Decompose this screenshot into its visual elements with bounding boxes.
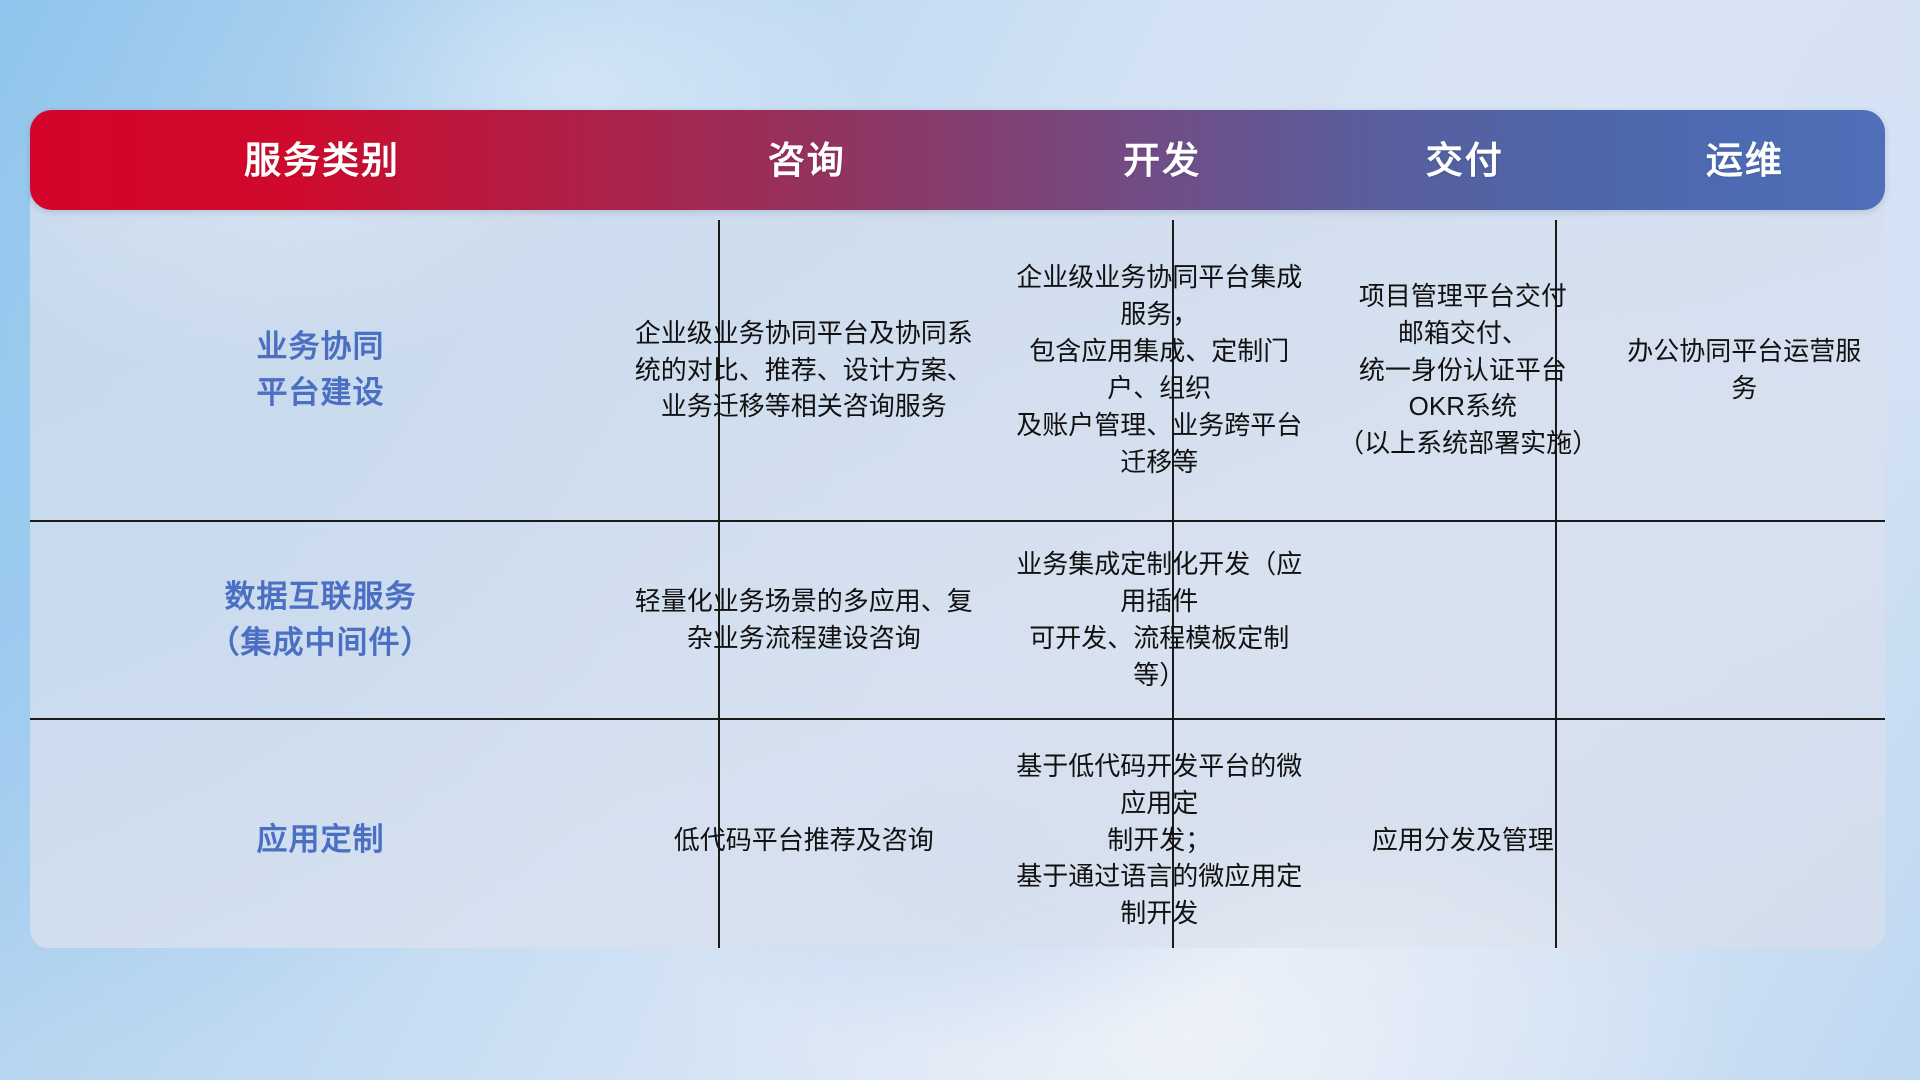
column-header-category: 服务类别 <box>30 142 614 179</box>
column-header-development: 开发 <box>1000 142 1325 179</box>
cell-consulting: 轻量化业务场景的多应用、复 杂业务流程建设咨询 <box>611 583 996 657</box>
column-header-consulting: 咨询 <box>614 142 999 179</box>
row-category-label: 业务协同 平台建设 <box>30 324 611 416</box>
cell-consulting: 企业级业务协同平台及协同系 统的对比、推荐、设计方案、 业务迁移等相关咨询服务 <box>611 315 996 426</box>
row-category-label: 应用定制 <box>30 817 611 863</box>
cell-delivery: 项目管理平台交付 邮箱交付、 统一身份认证平台 OKR系统 （以上系统部署实施） <box>1322 278 1603 463</box>
table-header-row: 服务类别 咨询 开发 交付 运维 <box>30 110 1885 210</box>
cell-operations: 办公协同平台运营服务 <box>1604 333 1885 407</box>
column-header-delivery: 交付 <box>1325 142 1605 179</box>
table-row: 应用定制 低代码平台推荐及咨询 基于低代码开发平台的微应用定 制开发； 基于通过… <box>30 720 1885 960</box>
cell-development: 企业级业务协同平台集成服务， 包含应用集成、定制门户、组织 及账户管理、业务跨平… <box>996 259 1322 480</box>
cell-delivery: 应用分发及管理 <box>1322 822 1603 859</box>
table-row: 业务协同 平台建设 企业级业务协同平台及协同系 统的对比、推荐、设计方案、 业务… <box>30 220 1885 520</box>
cell-development: 基于低代码开发平台的微应用定 制开发； 基于通过语言的微应用定制开发 <box>996 748 1322 933</box>
row-category-label: 数据互联服务 （集成中间件） <box>30 574 611 666</box>
cell-consulting: 低代码平台推荐及咨询 <box>611 822 996 859</box>
cell-development: 业务集成定制化开发（应用插件 可开发、流程模板定制等） <box>996 546 1322 694</box>
service-category-table: 服务类别 咨询 开发 交付 运维 业务协同 平台建设 企业级业务协同平台及协同系… <box>30 110 1885 948</box>
column-header-operations: 运维 <box>1605 142 1885 179</box>
table-row: 数据互联服务 （集成中间件） 轻量化业务场景的多应用、复 杂业务流程建设咨询 业… <box>30 522 1885 718</box>
